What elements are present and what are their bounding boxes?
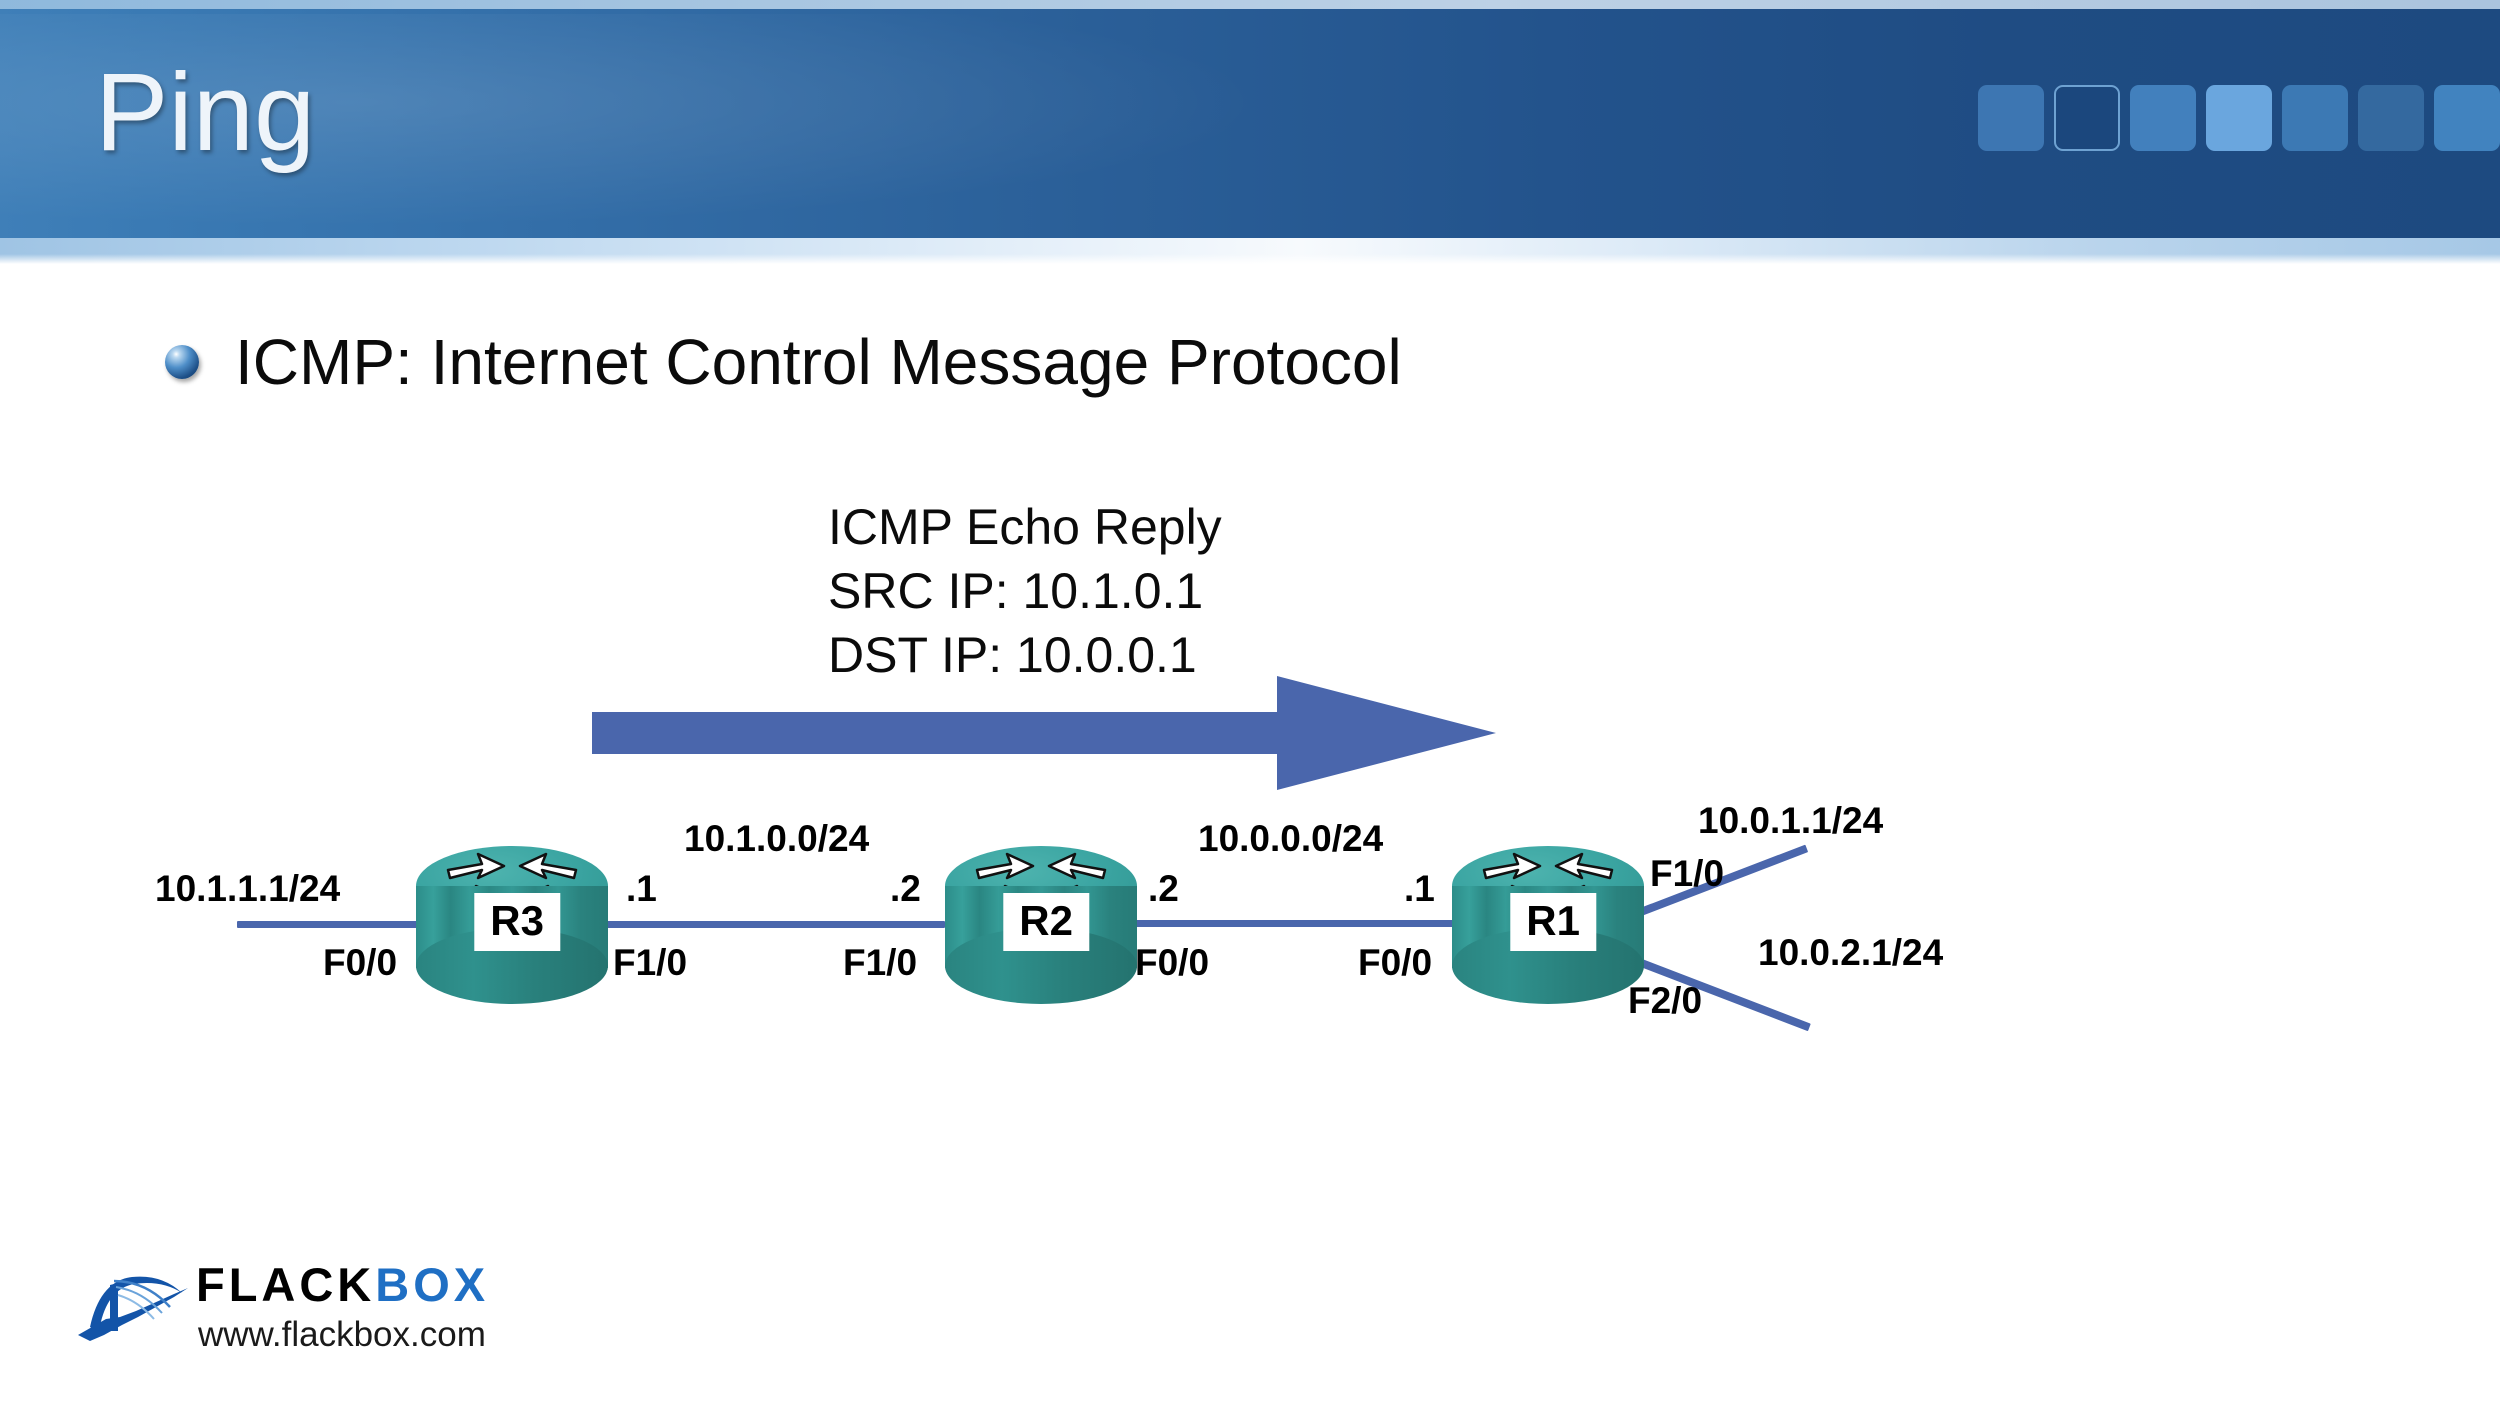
octet-label-r2-f1-0: .2 [890,870,921,907]
octet-label-r3-f1-0: .1 [626,870,657,907]
octet-label-r2-f0-0: .2 [1148,870,1179,907]
iface-label-r3-f0-0: F0/0 [323,944,397,981]
network-label-10-1-0-0: 10.1.0.0/24 [684,820,869,857]
packet-annotation: ICMP Echo Reply SRC IP: 10.1.0.1 DST IP:… [828,495,1222,687]
header-decorative-squares [1978,85,2500,151]
router-top-face [1452,846,1644,926]
slide: Ping ICMP: Internet Control Message Prot… [0,0,2500,1406]
router-label-r1: R1 [1510,893,1596,951]
link-r3-r2 [405,921,945,928]
packet-message-type: ICMP Echo Reply [828,495,1222,559]
bridge-logo-icon [70,1261,198,1349]
iface-label-r1-f2-0: F2/0 [1628,982,1702,1019]
router-arrows-icon [955,852,1127,926]
logo-url: www.flackbox.com [198,1317,486,1352]
router-body [945,886,1137,968]
packet-src-ip: SRC IP: 10.1.0.1 [828,559,1222,623]
bullet-text: ICMP: Internet Control Message Protocol [235,330,1402,394]
octet-label-r1-f0-0: .1 [1404,870,1435,907]
slide-header: Ping [0,0,2500,238]
header-square-6 [2358,85,2424,151]
header-underline-strip [0,238,2500,264]
iface-label-r1-f1-0: F1/0 [1650,855,1724,892]
header-square-3 [2130,85,2196,151]
router-arrows-icon [1462,852,1634,926]
network-label-10-0-0-0: 10.0.0.0/24 [1198,820,1383,857]
page-title: Ping [95,58,315,168]
flackbox-logo: FLACKBOX www.flackbox.com [70,1255,530,1370]
ip-label-10-0-1-1: 10.0.1.1/24 [1698,802,1883,839]
router-bottom-face [416,928,608,1004]
link-r1-f1-0 [1619,845,1809,924]
iface-label-r2-f1-0: F1/0 [843,944,917,981]
router-label-r3: R3 [474,893,560,951]
header-square-2 [2054,85,2120,151]
packet-direction-arrow [592,672,1496,794]
router-r2[interactable]: R2 [945,846,1137,1004]
router-bottom-face [1452,928,1644,1004]
router-label-r2: R2 [1003,893,1089,951]
logo-brand-first: FLACK [196,1258,375,1311]
router-body [416,886,608,968]
router-top-face [945,846,1137,926]
header-square-4 [2206,85,2272,151]
header-top-sheen [0,0,2500,9]
router-arrows-icon [426,852,598,926]
router-top-face [416,846,608,926]
iface-label-r1-f0-0: F0/0 [1358,944,1432,981]
ip-label-10-0-2-1: 10.0.2.1/24 [1758,934,1943,971]
header-square-7 [2434,85,2500,151]
ip-label-10-1-1-1: 10.1.1.1/24 [155,870,340,907]
header-square-1 [1978,85,2044,151]
iface-label-r2-f0-0: F0/0 [1135,944,1209,981]
router-r1[interactable]: R1 [1452,846,1644,1004]
sphere-bullet-icon [165,345,199,379]
router-bottom-face [945,928,1137,1004]
logo-brand-second: BOX [375,1258,489,1311]
link-r2-r1 [1110,920,1480,927]
router-r3[interactable]: R3 [416,846,608,1004]
iface-label-r3-f1-0: F1/0 [613,944,687,981]
header-square-5 [2282,85,2348,151]
link-r1-f2-0 [1617,950,1811,1031]
logo-wordmark: FLACKBOX [196,1261,489,1308]
router-body [1452,886,1644,968]
link-lan-left [237,921,417,928]
bullet-row: ICMP: Internet Control Message Protocol [165,330,1402,394]
